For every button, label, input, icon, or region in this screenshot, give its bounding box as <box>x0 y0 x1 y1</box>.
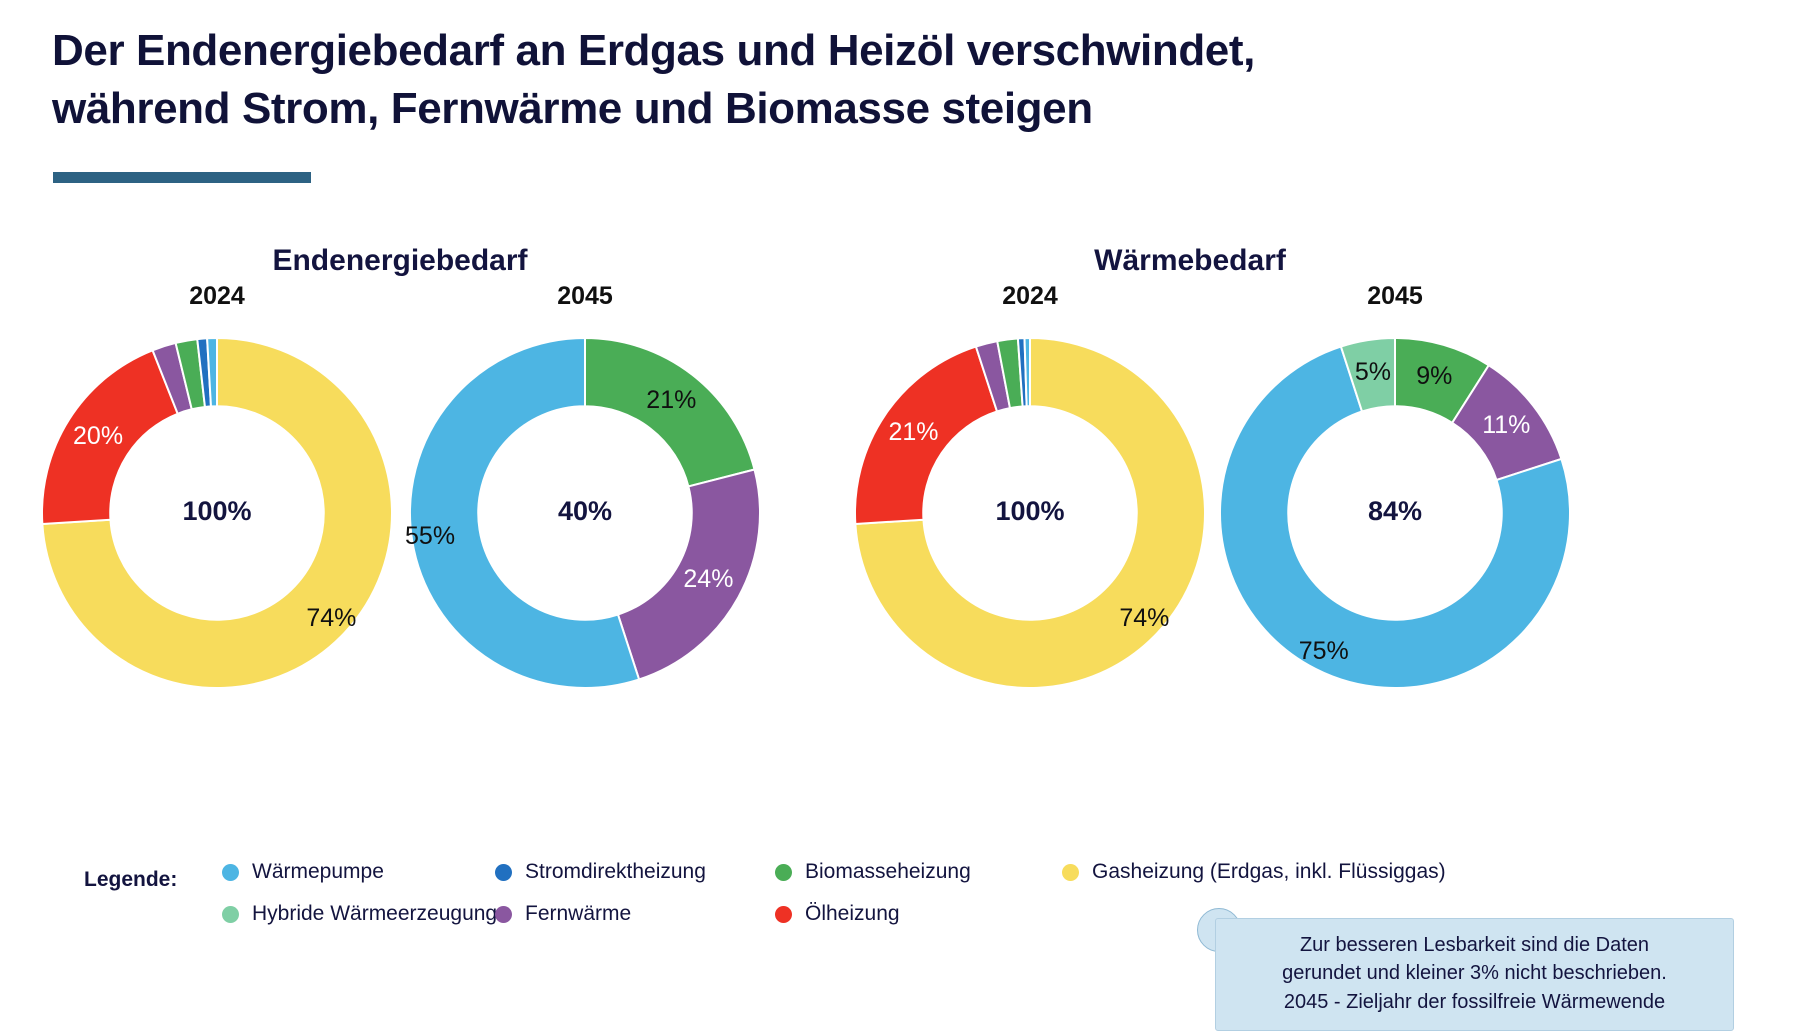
legend-item-stromdirektheizung[interactable]: Stromdirektheizung <box>495 860 706 884</box>
donut-slice-label: 20% <box>43 422 153 451</box>
legend-item-waermepumpe[interactable]: Wärmepumpe <box>222 860 384 884</box>
donut-slice-label: 24% <box>653 565 763 594</box>
chart-year-label: 2024 <box>930 282 1130 311</box>
legend-swatch-icon <box>495 906 512 923</box>
donut-chart: 40%21%24%55% <box>410 338 760 688</box>
section-title-endenergiebedarf: Endenergiebedarf <box>160 244 640 278</box>
donut-center-value: 100% <box>137 496 297 527</box>
legend-item-fernwaerme[interactable]: Fernwärme <box>495 902 631 926</box>
legend-item-label: Wärmepumpe <box>252 860 384 884</box>
donut-chart: 100%74%20% <box>42 338 392 688</box>
chart-year-label: 2024 <box>117 282 317 311</box>
title-line-1: Der Endenergiebedarf an Erdgas und Heizö… <box>52 22 1702 80</box>
chart-year-label: 2045 <box>485 282 685 311</box>
legend-swatch-icon <box>775 906 792 923</box>
donut-center-value: 40% <box>505 496 665 527</box>
donut-slice-label: 55% <box>375 522 485 551</box>
info-box: Zur besseren Lesbarkeit sind die Daten g… <box>1215 918 1734 1031</box>
title-accent-bar <box>53 172 311 183</box>
legend-swatch-icon <box>775 864 792 881</box>
page-title: Der Endenergiebedarf an Erdgas und Heizö… <box>52 22 1702 138</box>
donut-slice-label: 11% <box>1451 411 1561 440</box>
legend-item-label: Biomasseheizung <box>805 860 971 884</box>
info-line-1: Zur besseren Lesbarkeit sind die Daten <box>1234 931 1715 959</box>
donut-center-value: 84% <box>1315 496 1475 527</box>
donut-slice-label: 74% <box>276 604 386 633</box>
legend-item-oelheizung[interactable]: Ölheizung <box>775 902 900 926</box>
donut-slice[interactable] <box>1025 338 1030 406</box>
slide-canvas: Der Endenergiebedarf an Erdgas und Heizö… <box>0 0 1794 1032</box>
legend-title: Legende: <box>84 868 177 892</box>
donut-center-value: 100% <box>950 496 1110 527</box>
donut-slice-label: 21% <box>858 418 968 447</box>
legend-item-biomasseheizung[interactable]: Biomasseheizung <box>775 860 971 884</box>
legend-item-label: Ölheizung <box>805 902 900 926</box>
title-line-2: während Strom, Fernwärme und Biomasse st… <box>52 80 1702 138</box>
info-line-2: gerundet und kleiner 3% nicht beschriebe… <box>1234 959 1715 987</box>
legend-item-label: Gasheizung (Erdgas, inkl. Flüssiggas) <box>1092 860 1446 884</box>
legend-item-label: Fernwärme <box>525 902 631 926</box>
legend-swatch-icon <box>1062 864 1079 881</box>
legend-swatch-icon <box>495 864 512 881</box>
donut-slice-label: 5% <box>1318 358 1428 387</box>
legend-item-hybride[interactable]: Hybride Wärmeerzeugung <box>222 902 497 926</box>
donut-slice-label: 21% <box>616 386 726 415</box>
chart-year-label: 2045 <box>1295 282 1495 311</box>
section-title-waermebedarf: Wärmebedarf <box>950 244 1430 278</box>
donut-slice-label: 75% <box>1269 637 1379 666</box>
legend-item-label: Hybride Wärmeerzeugung <box>252 902 497 926</box>
donut-chart: 84%9%11%75%5% <box>1220 338 1570 688</box>
legend-item-label: Stromdirektheizung <box>525 860 706 884</box>
legend-swatch-icon <box>222 906 239 923</box>
legend-swatch-icon <box>222 864 239 881</box>
donut-chart: 100%74%21% <box>855 338 1205 688</box>
legend-item-gasheizung[interactable]: Gasheizung (Erdgas, inkl. Flüssiggas) <box>1062 860 1446 884</box>
info-line-3: 2045 - Zieljahr der fossilfreie Wärmewen… <box>1234 988 1715 1016</box>
donut-slice-label: 74% <box>1089 604 1199 633</box>
